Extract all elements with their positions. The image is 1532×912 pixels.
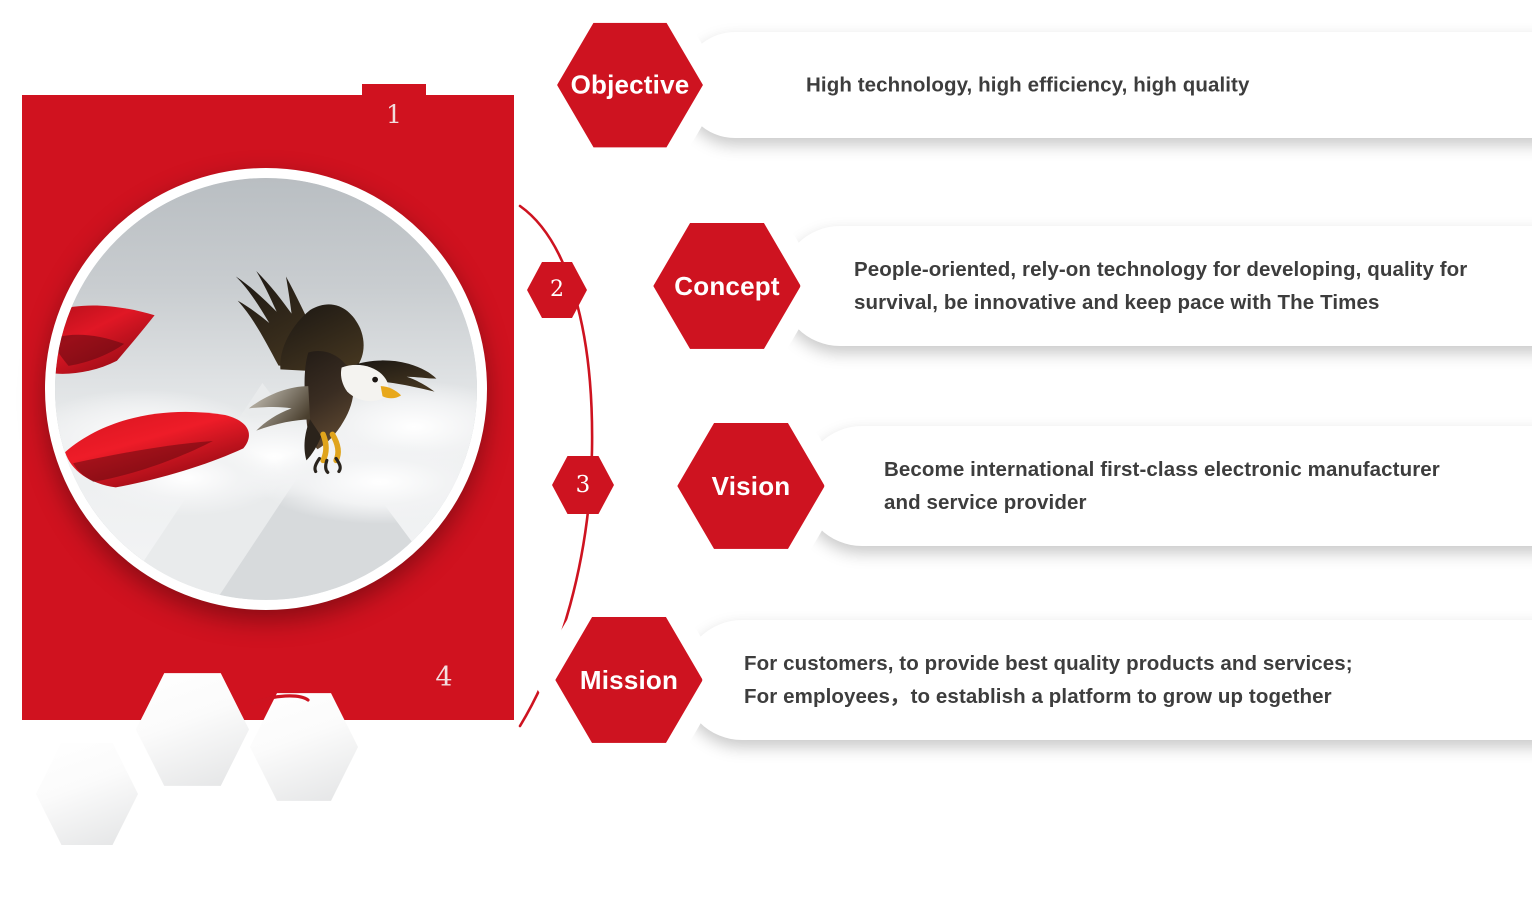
- row-mission[interactable]: For customers, to provide best quality p…: [532, 610, 1382, 750]
- red-ribbon-icon: [59, 402, 262, 495]
- hexagon-inner: Concept: [653, 223, 800, 349]
- decorative-hexagon-icon: [36, 742, 138, 846]
- decorative-hexagon-icon: [136, 672, 249, 787]
- decorative-hexagon-cluster: [20, 668, 370, 838]
- hexagon-label-mission: Mission: [580, 665, 678, 696]
- hexagon-label-objective: Objective: [571, 70, 690, 101]
- hexagon-label-vision: Vision: [712, 471, 791, 502]
- hexagon-vision[interactable]: Vision: [654, 403, 848, 569]
- row-vision[interactable]: Become international first-class electro…: [654, 416, 1504, 556]
- hexagon-inner: Vision: [677, 423, 824, 549]
- hexagon-concept[interactable]: Concept: [630, 203, 824, 369]
- row-objective[interactable]: High technology, high efficiency, high q…: [534, 18, 1384, 152]
- panel-marker-1: 1: [362, 98, 426, 132]
- hexagon-inner: Mission: [555, 617, 702, 743]
- card-text-objective: High technology, high efficiency, high q…: [806, 69, 1249, 102]
- eagle-photo: [55, 178, 477, 600]
- card-text-vision: Become international first-class electro…: [884, 453, 1440, 519]
- hexagon-inner: Objective: [557, 23, 703, 148]
- card-text-concept: People-oriented, rely-on technology for …: [854, 253, 1467, 319]
- card-text-mission: For customers, to provide best quality p…: [744, 647, 1353, 713]
- hexagon-objective[interactable]: Objective: [534, 3, 726, 167]
- red-accent-arc-icon: [250, 692, 370, 752]
- red-ribbon-icon: [55, 300, 190, 384]
- hexagon-mission[interactable]: Mission: [532, 597, 726, 763]
- row-concept[interactable]: People-oriented, rely-on technology for …: [630, 216, 1480, 356]
- infographic-canvas: 1 4: [0, 0, 1532, 912]
- eagle-photo-circle: [45, 168, 487, 610]
- panel-marker-4: 4: [412, 660, 476, 696]
- hexagon-label-concept: Concept: [674, 271, 779, 302]
